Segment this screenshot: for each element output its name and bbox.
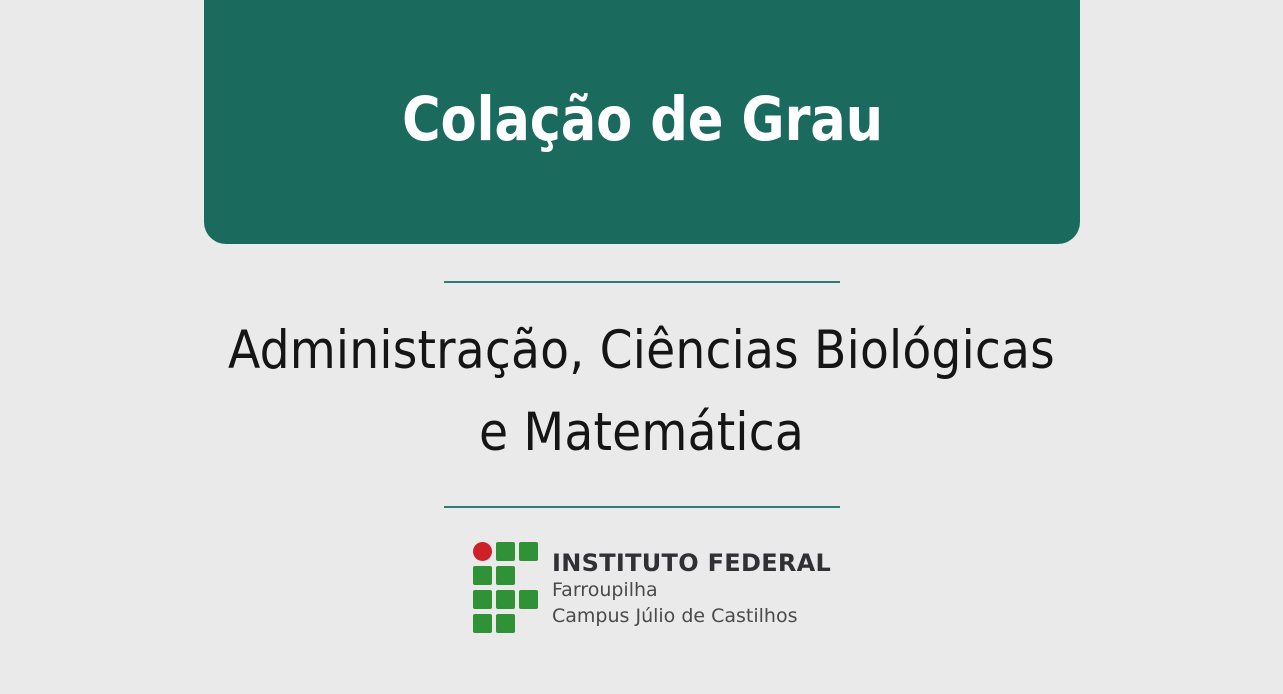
if-grid-icon (473, 542, 539, 633)
logo-square-cell (496, 614, 515, 633)
logo-square-cell (473, 614, 492, 633)
logo-square-cell (473, 566, 492, 585)
course-names: Administração, Ciências Biológicas e Mat… (0, 310, 1283, 474)
institution-logo-text: INSTITUTO FEDERAL Farroupilha Campus Júl… (552, 542, 831, 629)
logo-square-cell (519, 590, 538, 609)
logo-square-cell (519, 542, 538, 561)
institution-unit: Farroupilha (552, 579, 831, 603)
logo-square-cell (473, 590, 492, 609)
divider-top (444, 281, 840, 283)
logo-square-cell (496, 566, 515, 585)
institution-campus: Campus Júlio de Castilhos (552, 605, 831, 629)
course-names-line-1: Administração, Ciências Biológicas (6, 310, 1276, 392)
header-card: Colação de Grau (204, 0, 1080, 244)
institution-logo: INSTITUTO FEDERAL Farroupilha Campus Júl… (473, 542, 831, 633)
logo-dot-cell (473, 542, 492, 561)
page-title: Colação de Grau (402, 88, 883, 152)
slide-root: Colação de Grau Administração, Ciências … (0, 0, 1283, 694)
course-names-line-2: e Matemática (6, 392, 1276, 474)
logo-square-cell (496, 542, 515, 561)
divider-bottom (444, 506, 840, 508)
logo-square-cell (496, 590, 515, 609)
institution-name: INSTITUTO FEDERAL (552, 551, 831, 577)
